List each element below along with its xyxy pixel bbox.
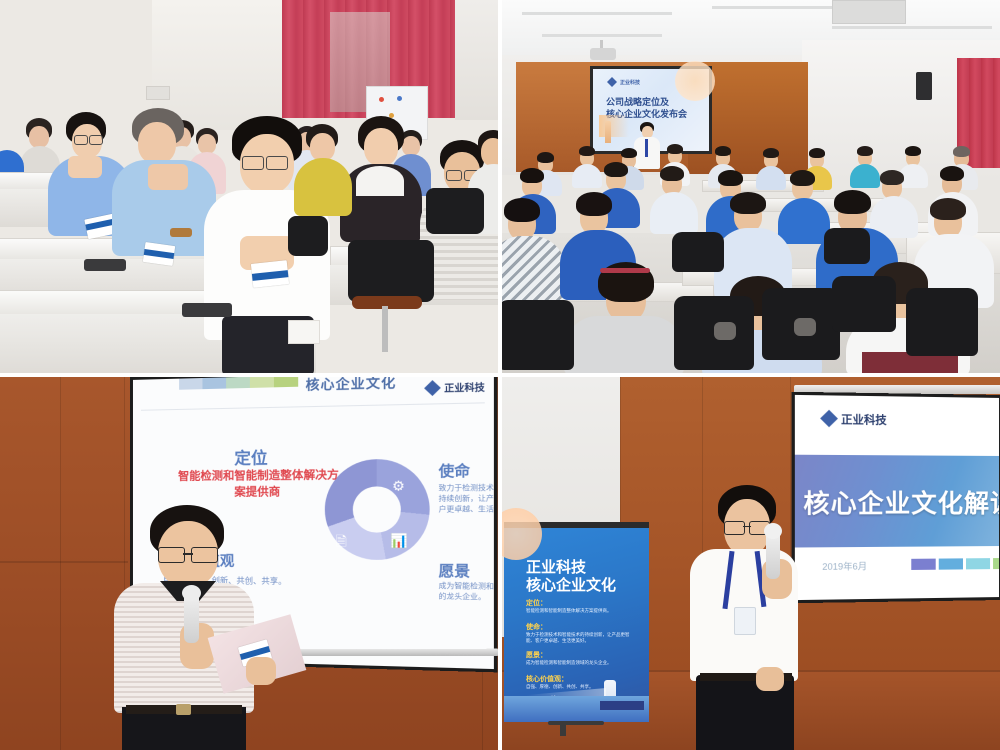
panel-lecture-hall-wide-view: 正业科技 公司战略定位及 核心企业文化发布会 [502,0,1000,373]
belt-buckle [176,704,191,715]
slide-header: 核心企业文化 [306,377,397,394]
ceiling-vent [832,0,906,24]
slide-title: 核心企业文化解读 [803,484,999,521]
donut-icon-chart: 📊 [390,533,408,550]
banner-text-vision: 成为智能检测和智能制造领域的龙头企业。 [526,660,638,666]
banner-text-positioning: 智能检测和智能制造整体解决方案提供商。 [526,608,638,614]
smartphone-on-desk [84,259,126,271]
slide-top-color-bars [179,377,298,390]
slide-text-mission: 致力于检测技术和智能技术的持续创新，让产品更智能、客户更卓越、生活更美好。 [439,483,494,516]
slide-date: 2019年6月 [822,559,867,573]
wall-sockets [146,86,170,100]
slide-label-vision: 愿景 [439,560,470,582]
slide-label-positioning: 定位 [234,444,267,469]
ceiling-projector [590,48,616,60]
banner-key-values: 核心价值观： [526,674,568,684]
zhengye-logo-icon [424,380,441,396]
slide-logo-text: 正业科技 [841,410,887,427]
donut-icon-gear: ⚙ [392,478,405,495]
slide-label-mission: 使命 [439,460,470,482]
slide-logo: 正业科技 [424,379,485,396]
roll-up-banner: 正业科技 核心企业文化 定位： 智能检测和智能制造整体解决方案提供商。 使命： … [504,522,649,722]
chair-handle [714,322,736,340]
zhengye-logo-icon [820,410,838,428]
banner-stand-foot [560,724,566,736]
zhengye-logo-icon [607,77,617,87]
slide-color-swatches [911,558,999,570]
panel-audience-seated-front-row [0,0,498,373]
glasses-icon [158,547,218,561]
projection-screen-frame: 正业科技 核心企业文化解读 2019年6月 [792,392,1000,603]
microphone-head [764,523,782,539]
smartphone-on-desk [182,303,232,317]
microphone-head [182,585,201,601]
panel-speaker-with-culture-slide: 核心企业文化 正业科技 ⚙ 🗎 📊 定位 智能检测和智能制造整体解决方案提供商 … [0,377,498,750]
slide-lighthouse-icon [605,121,611,143]
hand-at-waist [756,667,784,691]
banner-key-mission: 使命： [526,622,547,632]
hand-holding-paper [246,657,276,685]
slide-lighthouse-beam [599,115,629,137]
invitation-card [251,260,289,288]
office-chair [426,188,484,234]
banner-stand-leg [548,721,604,725]
banner-key-positioning: 定位： [526,598,547,608]
chair-back [672,232,724,272]
slide-text-vision: 成为智能检测和智能制造领域的龙头企业。 [439,582,494,605]
slide-logo: 正业科技 [820,410,887,428]
chair-post [382,306,388,352]
banner-key-vision: 愿景： [526,650,547,660]
slide-logo-text: 正业科技 [620,79,640,86]
wall-speaker [916,72,932,100]
chair-back [906,288,978,356]
office-chair [288,216,328,256]
slide-text-positioning: 智能检测和智能制造整体解决方案提供商 [175,468,342,502]
panel-speaker-with-banner-and-screen: 正业科技 核心企业文化解读 2019年6月 正业科技 核心企业文化 定位： 智能… [502,377,1000,750]
projection-screen: 正业科技 核心企业文化解读 2019年6月 [795,395,999,600]
donut-icon-document: 🗎 [336,533,347,556]
invitation-card [143,242,175,266]
office-chair [348,240,434,302]
hair-band [600,268,650,273]
wall-right [455,0,498,120]
chair-handle [794,318,816,336]
banner-text-values: 自强、厚德、创新、共创、共享。 [526,684,638,690]
banner-title-line2: 核心企业文化 [526,574,616,595]
slide-divider [141,402,485,410]
id-badge [734,607,756,635]
chair-back [824,228,870,264]
banner-footer-strip [600,701,644,710]
name-tag-on-desk [288,320,320,344]
slide-logo-text: 正业科技 [444,380,485,395]
banner-text-mission: 致力于检测技术和智能技术的持续创新，让产品更智能、客户更卓越、生活更美好。 [526,632,638,644]
slide-logo: 正业科技 [607,77,640,87]
slide-sun-decoration [675,61,715,101]
photo-collage: 正业科技 公司战略定位及 核心企业文化发布会 [0,0,1000,750]
chair-back [832,276,896,332]
chair-back [502,300,574,370]
wood-wall-joint [0,561,128,563]
